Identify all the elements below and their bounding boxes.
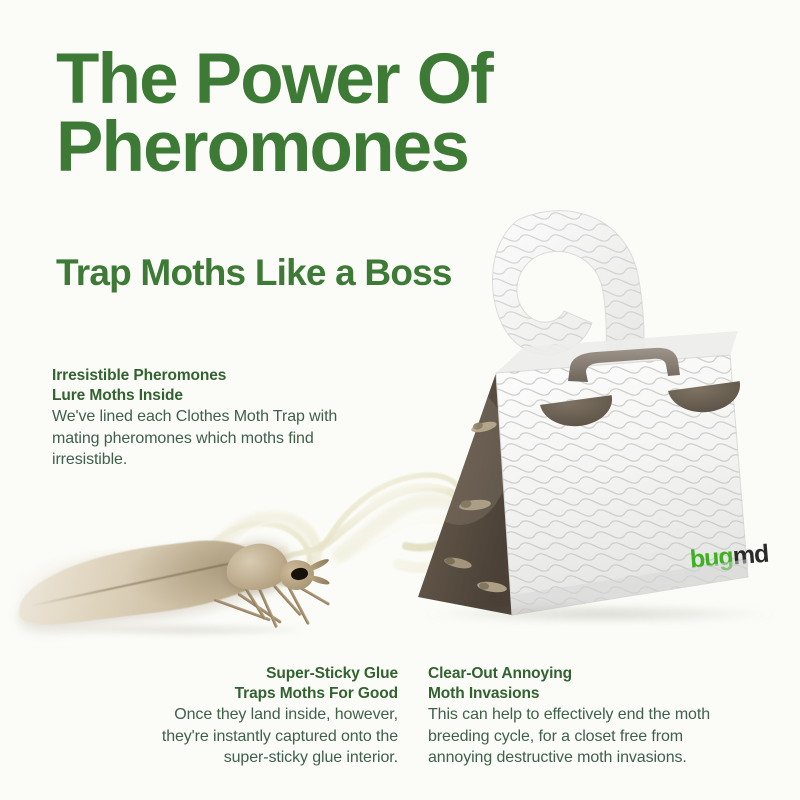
feature-heading-line-2: Traps Moths For Good (235, 685, 398, 702)
clothes-moth-trap-product: bug md (400, 205, 800, 635)
feature-heading-line-1: Clear-Out Annoying (428, 665, 572, 682)
subheadline: Trap Moths Like a Boss (56, 252, 452, 294)
clothes-moth-photo (8, 520, 328, 650)
feature-heading: Clear-Out Annoying Moth Invasions (428, 664, 748, 703)
trap-front-panel: bug md (480, 335, 770, 635)
moth-shadow (48, 624, 298, 636)
page-title: The Power Of Pheromones (56, 46, 656, 182)
headline-line-1: The Power Of (56, 40, 492, 119)
feature-heading: Super-Sticky Glue Traps Moths For Good (140, 664, 398, 703)
trap-glue-panel (410, 373, 512, 615)
ad-canvas: The Power Of Pheromones Trap Moths Like … (0, 0, 800, 800)
moth-palp (306, 557, 330, 573)
feature-heading-line-2: Moth Invasions (428, 685, 539, 702)
moth-palp (308, 574, 331, 587)
feature-body: Once they land inside, however, they're … (140, 704, 398, 768)
trap-shadow (420, 605, 780, 623)
feature-body: This can help to effectively end the mot… (428, 704, 748, 768)
feature-heading-line-1: Irresistible Pheromones (52, 367, 226, 384)
feature-heading: Irresistible Pheromones Lure Moths Insid… (52, 366, 352, 405)
headline-line-2: Pheromones (56, 114, 656, 182)
feature-block-glue: Super-Sticky Glue Traps Moths For Good O… (140, 664, 398, 768)
feature-body: We've lined each Clothes Moth Trap with … (52, 406, 352, 470)
feature-block-pheromones: Irresistible Pheromones Lure Moths Insid… (52, 366, 352, 470)
feature-block-clearout: Clear-Out Annoying Moth Invasions This c… (428, 664, 748, 768)
moth-leg (299, 586, 330, 606)
feature-heading-line-2: Lure Moths Inside (52, 387, 183, 404)
feature-heading-line-1: Super-Sticky Glue (266, 665, 398, 682)
